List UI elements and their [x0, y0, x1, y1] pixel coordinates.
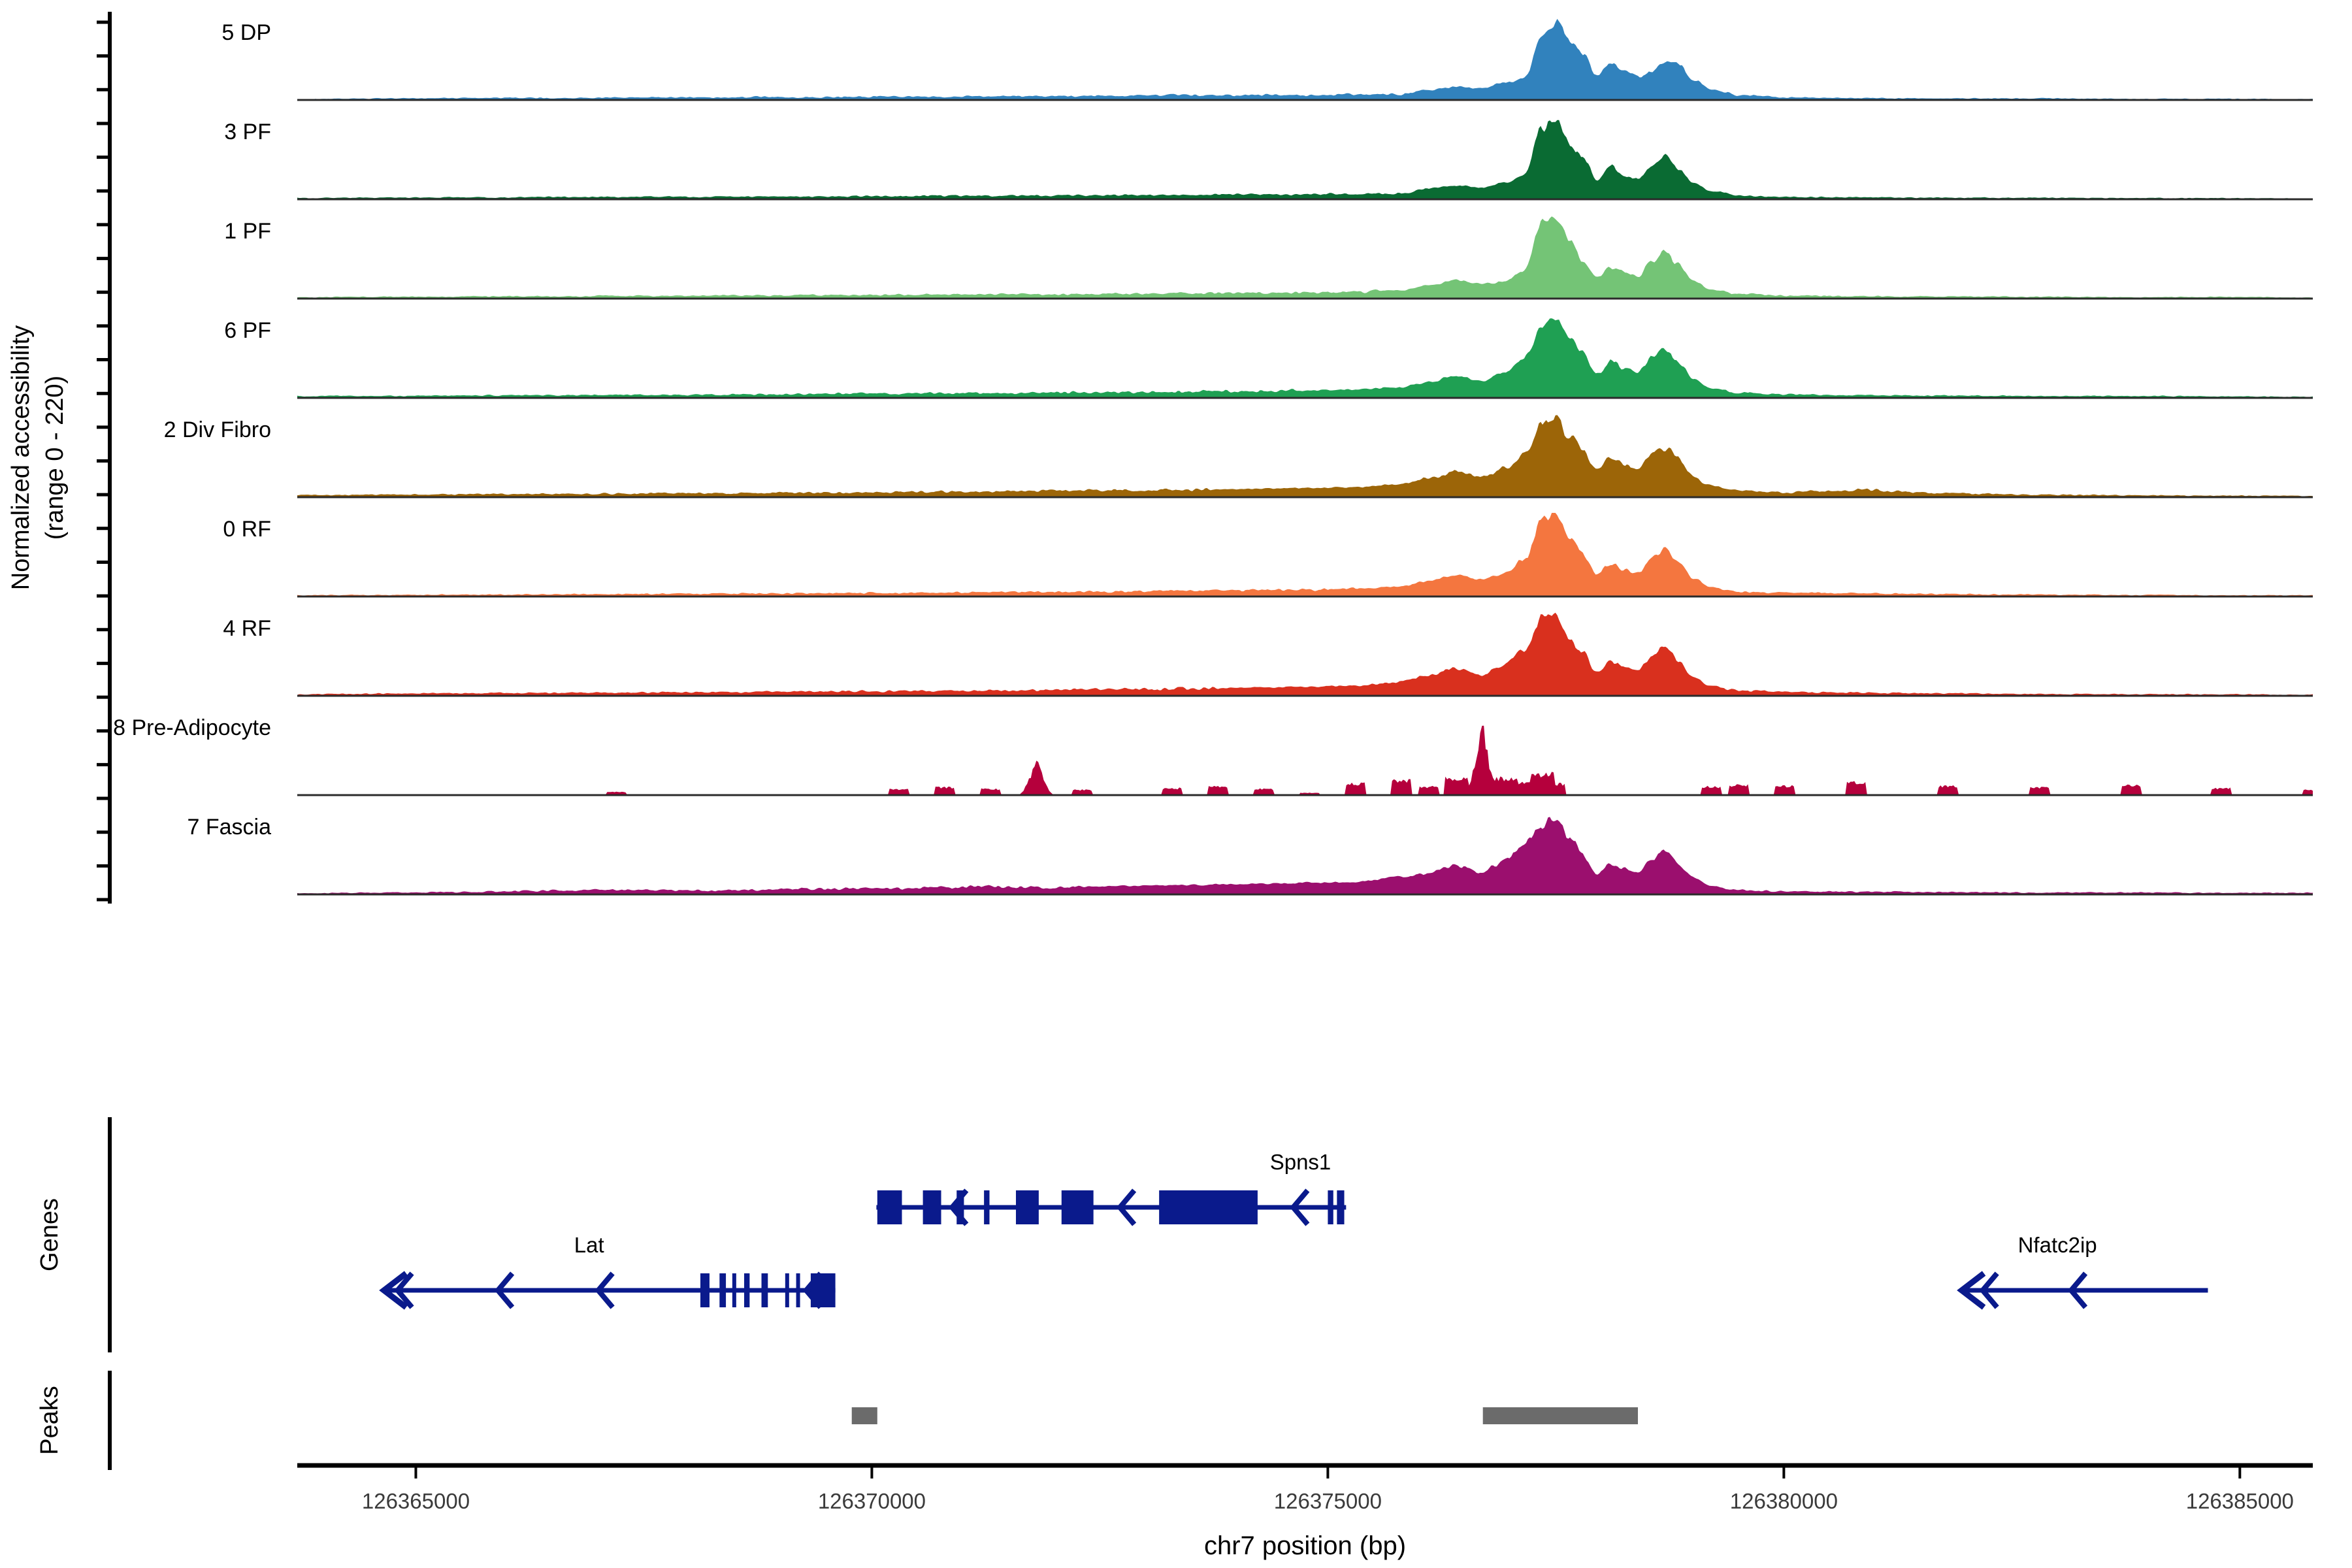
gene-exon	[1062, 1190, 1094, 1224]
x-axis: 1263650001263700001263750001263800001263…	[297, 1465, 2313, 1560]
coverage-area	[297, 613, 2313, 696]
track-label: 3 PF	[224, 120, 271, 144]
track-label: 0 RF	[223, 517, 271, 542]
x-axis-tick-label: 126375000	[1274, 1489, 1382, 1513]
coverage-track: 1 PF	[224, 216, 2313, 299]
coverage-area	[297, 120, 2313, 199]
gene-model[interactable]: Lat	[384, 1233, 836, 1307]
peaks-section-label: Peaks	[36, 1386, 63, 1455]
coverage-track: 6 PF	[224, 318, 2313, 398]
track-label: 6 PF	[224, 318, 271, 343]
track-label: 7 Fascia	[188, 815, 272, 840]
figure-canvas: Normalized accessibility(range 0 - 220)5…	[0, 0, 2352, 1568]
coverage-area	[297, 726, 2313, 795]
gene-model[interactable]: Nfatc2ip	[1962, 1233, 2208, 1307]
genome-browser-figure: Normalized accessibility(range 0 - 220)5…	[0, 0, 2352, 1568]
gene-exon	[700, 1273, 710, 1307]
coverage-area	[297, 318, 2313, 398]
x-axis-tick-label: 126385000	[2186, 1489, 2294, 1513]
coverage-area	[297, 817, 2313, 894]
gene-exon	[732, 1273, 736, 1307]
coverage-track: 8 Pre-Adipocyte	[113, 715, 2313, 795]
gene-exon	[785, 1273, 789, 1307]
peak-region[interactable]	[852, 1407, 877, 1424]
x-axis-tick-label: 126370000	[818, 1489, 926, 1513]
gene-label: Nfatc2ip	[2018, 1233, 2097, 1257]
coverage-area	[297, 415, 2313, 497]
track-label: 4 RF	[223, 616, 271, 641]
gene-exon	[984, 1190, 989, 1224]
gene-exon	[719, 1273, 726, 1307]
peak-region[interactable]	[1483, 1407, 1638, 1424]
coverage-area	[297, 216, 2313, 299]
gene-exon	[877, 1190, 902, 1224]
gene-exon	[1328, 1190, 1333, 1224]
gene-model[interactable]: Spns1	[876, 1150, 1346, 1224]
coverage-track: 5 DP	[221, 19, 2313, 100]
y-axis-label-line1: Normalized accessibility	[7, 325, 35, 590]
coverage-tracks: 5 DP3 PF1 PF6 PF2 Div Fibro0 RF4 RF8 Pre…	[113, 19, 2313, 894]
y-axis	[97, 12, 110, 904]
gene-exon	[762, 1273, 768, 1307]
coverage-track: 4 RF	[223, 613, 2313, 696]
gene-exon	[811, 1273, 836, 1307]
x-axis-tick-label: 126380000	[1730, 1489, 1838, 1513]
peaks-section: Peaks	[36, 1371, 1638, 1470]
coverage-track: 7 Fascia	[188, 815, 2313, 894]
gene-label: Spns1	[1270, 1150, 1331, 1174]
gene-label: Lat	[574, 1233, 604, 1257]
coverage-area	[297, 513, 2313, 596]
coverage-track: 0 RF	[223, 513, 2313, 596]
x-axis-title: chr7 position (bp)	[1204, 1531, 1406, 1560]
gene-exon	[744, 1273, 749, 1307]
gene-exon	[1016, 1190, 1039, 1224]
track-label: 2 Div Fibro	[164, 417, 271, 442]
coverage-track: 2 Div Fibro	[164, 415, 2313, 497]
x-axis-tick-label: 126365000	[362, 1489, 470, 1513]
track-label: 1 PF	[224, 219, 271, 244]
coverage-area	[297, 19, 2313, 100]
track-label: 8 Pre-Adipocyte	[113, 715, 271, 740]
y-axis-label: Normalized accessibility(range 0 - 220)	[7, 325, 69, 590]
gene-exon	[923, 1190, 941, 1224]
coverage-track: 3 PF	[224, 120, 2313, 199]
y-axis-label-line2: (range 0 - 220)	[41, 376, 69, 540]
genes-section-label: Genes	[36, 1198, 63, 1271]
gene-exon	[1337, 1190, 1344, 1224]
track-label: 5 DP	[221, 20, 271, 45]
gene-exon	[956, 1190, 964, 1224]
genes-section: GenesSpns1LatNfatc2ip	[36, 1117, 2208, 1352]
gene-exon	[796, 1273, 800, 1307]
gene-exon	[1159, 1190, 1258, 1224]
